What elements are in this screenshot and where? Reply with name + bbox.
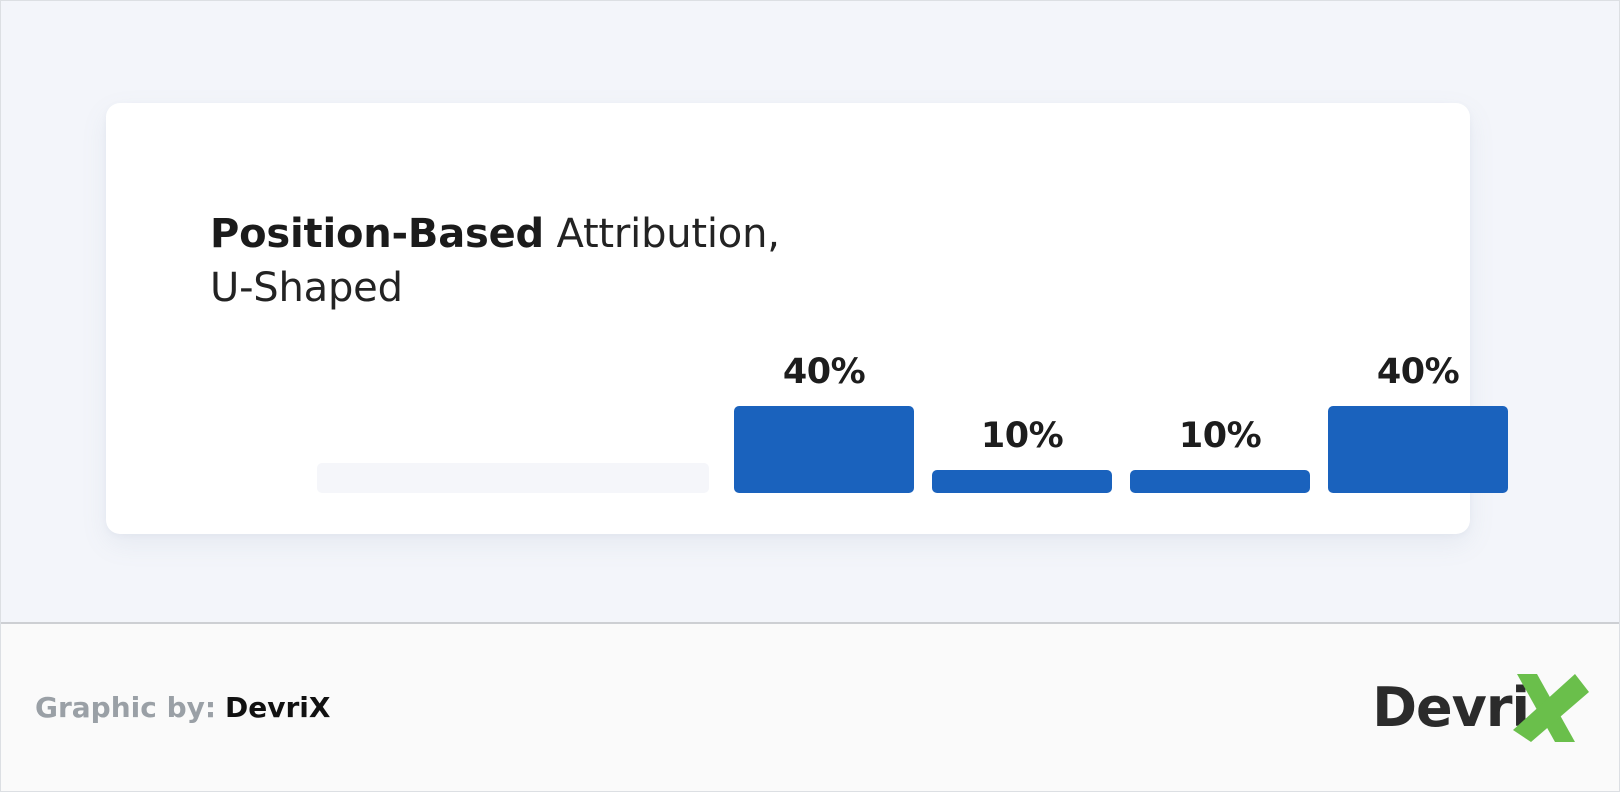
x-mark-icon xyxy=(1503,668,1589,748)
bar-segment[interactable] xyxy=(734,406,914,493)
bar-chart: 40%10%10%40% xyxy=(106,103,1470,534)
bar-value-label: 10% xyxy=(932,419,1112,454)
bar-segment[interactable] xyxy=(1328,406,1508,493)
devrix-logo[interactable]: Devri xyxy=(1372,670,1589,746)
bar-segment[interactable] xyxy=(932,470,1112,493)
bar-group: 40% xyxy=(734,336,914,493)
bar-group xyxy=(317,393,709,493)
bar-value-label: 10% xyxy=(1130,419,1310,454)
chart-card: Position-Based Attribution, U-Shaped 40%… xyxy=(106,103,1470,534)
bar-value-label: 40% xyxy=(1328,355,1508,390)
credit-brand-name: DevriX xyxy=(225,691,330,724)
bar-segment[interactable] xyxy=(1130,470,1310,493)
bar-placeholder xyxy=(317,463,709,493)
credit-prefix-label: Graphic by: xyxy=(35,691,216,724)
infographic-frame: Position-Based Attribution, U-Shaped 40%… xyxy=(0,0,1620,792)
credit-line: Graphic by: DevriX xyxy=(35,694,331,722)
footer-bar: Graphic by: DevriX Devri xyxy=(1,622,1619,791)
bar-value-label: 40% xyxy=(734,355,914,390)
bar-group: 40% xyxy=(1328,336,1508,493)
bar-group: 10% xyxy=(932,400,1112,493)
chart-canvas-area: Position-Based Attribution, U-Shaped 40%… xyxy=(1,1,1619,622)
bar-group: 10% xyxy=(1130,400,1310,493)
